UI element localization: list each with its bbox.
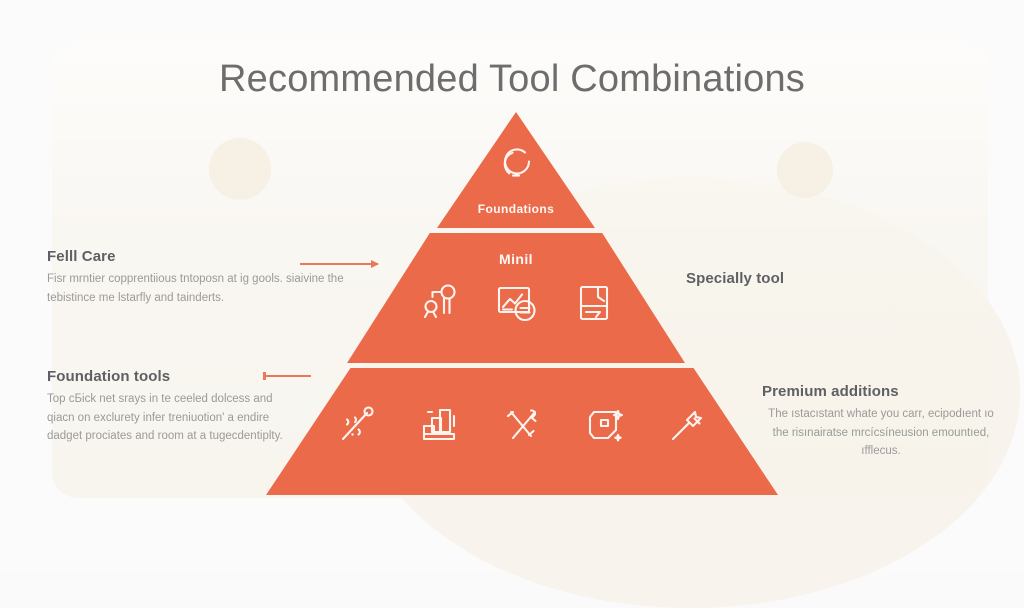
diagram-canvas: Recommended Tool Combinations Foundation… xyxy=(0,0,1024,573)
tier-top-icons xyxy=(437,142,595,184)
microscope-icon xyxy=(418,281,462,325)
annotation-foundation-tools-heading: Foundation tools xyxy=(47,368,287,385)
page-fold-icon xyxy=(574,281,614,325)
annotation-premium-additions-heading: Premium additions xyxy=(762,383,1000,400)
frame-sparkle-icon xyxy=(584,404,626,446)
annotation-fell-care-heading: Felll Care xyxy=(47,248,377,265)
layered-blocks-icon xyxy=(418,404,462,446)
annotation-fell-care: Felll Care Fisr mrntier copprentiious tn… xyxy=(47,248,377,307)
annotation-premium-additions-body: The ıstacıstant whate you carr, ecipodıe… xyxy=(762,405,1000,461)
annotation-specialty-tool: Specially tool xyxy=(686,270,946,292)
annotation-fell-care-body: Fisr mrntier copprentiious tntoposn at i… xyxy=(47,270,377,307)
chart-document-icon xyxy=(494,281,542,325)
tier-middle-icons xyxy=(347,281,685,325)
annotation-specialty-tool-heading: Specially tool xyxy=(686,270,946,287)
pyramid-tier-middle[interactable]: Minil xyxy=(347,233,685,363)
tier-middle-label: Minil xyxy=(347,251,685,267)
circular-arc-icon xyxy=(495,142,537,184)
annotation-foundation-tools-body: Top cБick net srays in te ceeled dolcess… xyxy=(47,390,287,446)
annotation-premium-additions: Premium additions The ıstacıstant whate … xyxy=(762,383,1000,461)
crossed-tools-icon xyxy=(502,404,544,446)
wrench-icon xyxy=(666,404,708,446)
tier-bottom-icons xyxy=(266,404,778,446)
annotation-foundation-tools: Foundation tools Top cБick net srays in … xyxy=(47,368,287,446)
tier-top-label: Foundations xyxy=(437,202,595,216)
needle-thread-icon xyxy=(336,404,378,446)
pyramid-tier-bottom[interactable] xyxy=(266,368,778,495)
pyramid-tier-top[interactable]: Foundations xyxy=(437,112,595,228)
